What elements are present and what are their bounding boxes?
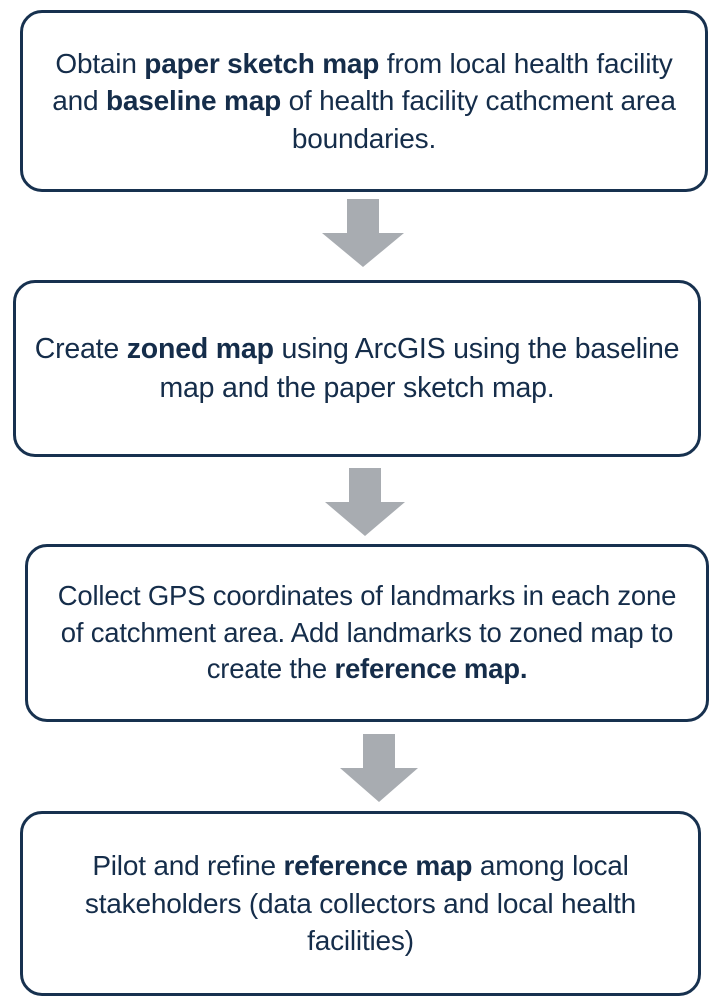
flowchart-node-step-2-label: Create zoned map using ArcGIS using the …: [32, 330, 682, 406]
flowchart-node-step-3: Collect GPS coordinates of landmarks in …: [25, 544, 709, 722]
down-arrow-icon: [325, 468, 405, 536]
flowchart-node-step-2: Create zoned map using ArcGIS using the …: [13, 280, 701, 457]
flowchart-node-step-4-label: Pilot and refine reference map among loc…: [39, 847, 682, 960]
flowchart-node-step-3-label: Collect GPS coordinates of landmarks in …: [44, 578, 690, 689]
flowchart-node-step-1: Obtain paper sketch map from local healt…: [20, 10, 708, 192]
flowchart-node-step-1-label: Obtain paper sketch map from local healt…: [39, 45, 689, 158]
down-arrow-icon: [322, 199, 404, 267]
down-arrow-icon: [340, 734, 418, 802]
flowchart-node-step-4: Pilot and refine reference map among loc…: [20, 811, 701, 996]
flowchart: Obtain paper sketch map from local healt…: [0, 0, 726, 1003]
